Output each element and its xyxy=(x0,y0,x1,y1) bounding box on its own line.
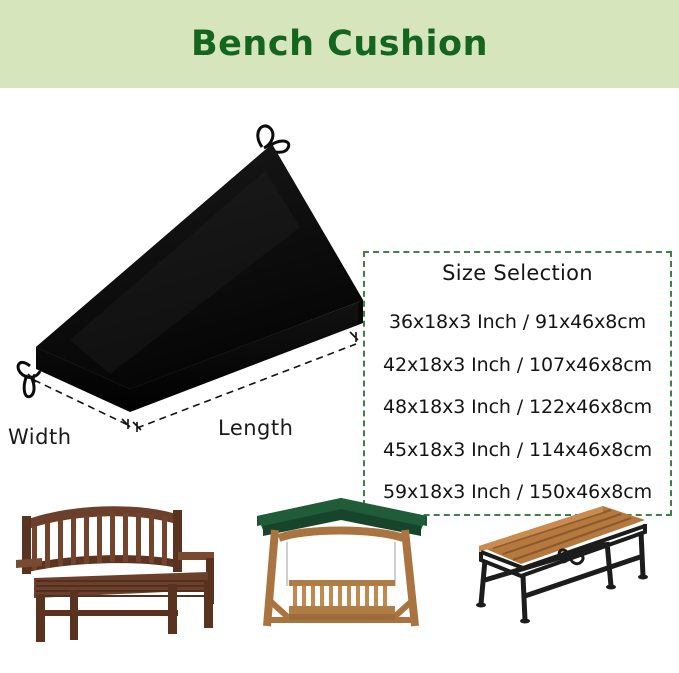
garden-bench-image xyxy=(8,468,218,648)
size-option[interactable]: 48x18x3 Inch / 122x46x8cm xyxy=(365,386,670,429)
page-title: Bench Cushion xyxy=(191,27,488,62)
porch-swing-image xyxy=(245,468,440,648)
size-option[interactable]: 36x18x3 Inch / 91x46x8cm xyxy=(365,301,670,344)
swing-seat xyxy=(289,580,395,620)
size-selection-title: Size Selection xyxy=(365,261,670,285)
backless-bench-image xyxy=(455,468,670,633)
width-label: Width xyxy=(8,425,72,449)
product-diagram-area: Width Length Size Selection 36x18x3 Inch… xyxy=(0,88,679,468)
bench-seat xyxy=(34,572,208,598)
size-option[interactable]: 42x18x3 Inch / 107x46x8cm xyxy=(365,344,670,387)
bench-back-frame xyxy=(22,506,182,574)
size-option[interactable]: 45x18x3 Inch / 114x46x8cm xyxy=(365,429,670,472)
swing-chains xyxy=(287,542,395,586)
header-banner: Bench Cushion xyxy=(0,0,679,88)
length-label: Length xyxy=(218,416,293,440)
compatible-furniture-row xyxy=(0,468,679,673)
